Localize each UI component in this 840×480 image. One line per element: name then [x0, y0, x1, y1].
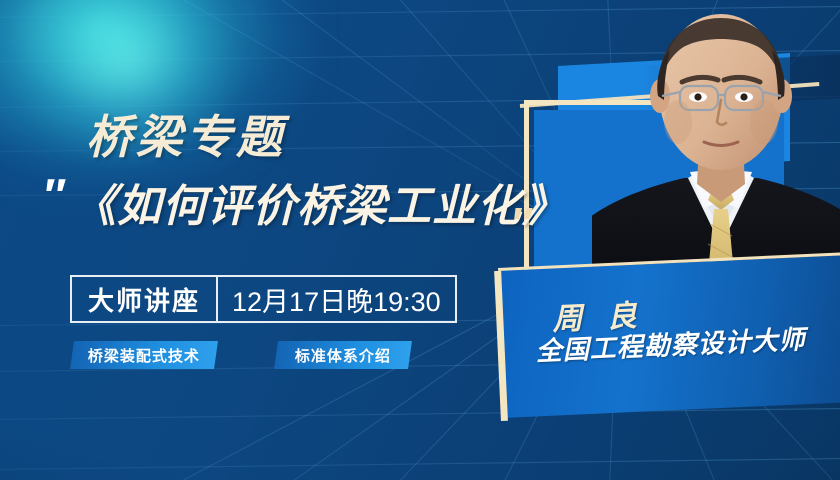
- lecture-type-label: 大师讲座: [72, 277, 218, 321]
- topic-tag-2[interactable]: 标准体系介绍: [274, 341, 412, 369]
- lecture-info-bar: 大师讲座 12月17日晚19:30: [70, 275, 457, 323]
- topic-tag-2-label: 标准体系介绍: [283, 345, 403, 366]
- topic-tag-1[interactable]: 桥梁装配式技术: [70, 341, 218, 369]
- speaker-photo: [592, 0, 840, 296]
- page-subtitle: 《如何评价桥梁工业化》: [72, 170, 567, 234]
- poster-canvas: 周 良 全国工程勘察设计大师 桥梁专题 ″ 《如何评价桥梁工业化》 ″ 大师讲座…: [0, 0, 840, 480]
- topic-tag-1-label: 桥梁装配式技术: [76, 345, 212, 366]
- lecture-datetime: 12月17日晚19:30: [218, 277, 455, 321]
- open-quote-mark: ″: [42, 172, 62, 218]
- speaker-nameplate: 周 良 全国工程勘察设计大师: [498, 252, 840, 418]
- close-quote-mark: ″: [510, 202, 529, 246]
- page-title: 桥梁专题: [86, 101, 286, 167]
- subtitle-group: ″ 《如何评价桥梁工业化》 ″: [30, 168, 540, 244]
